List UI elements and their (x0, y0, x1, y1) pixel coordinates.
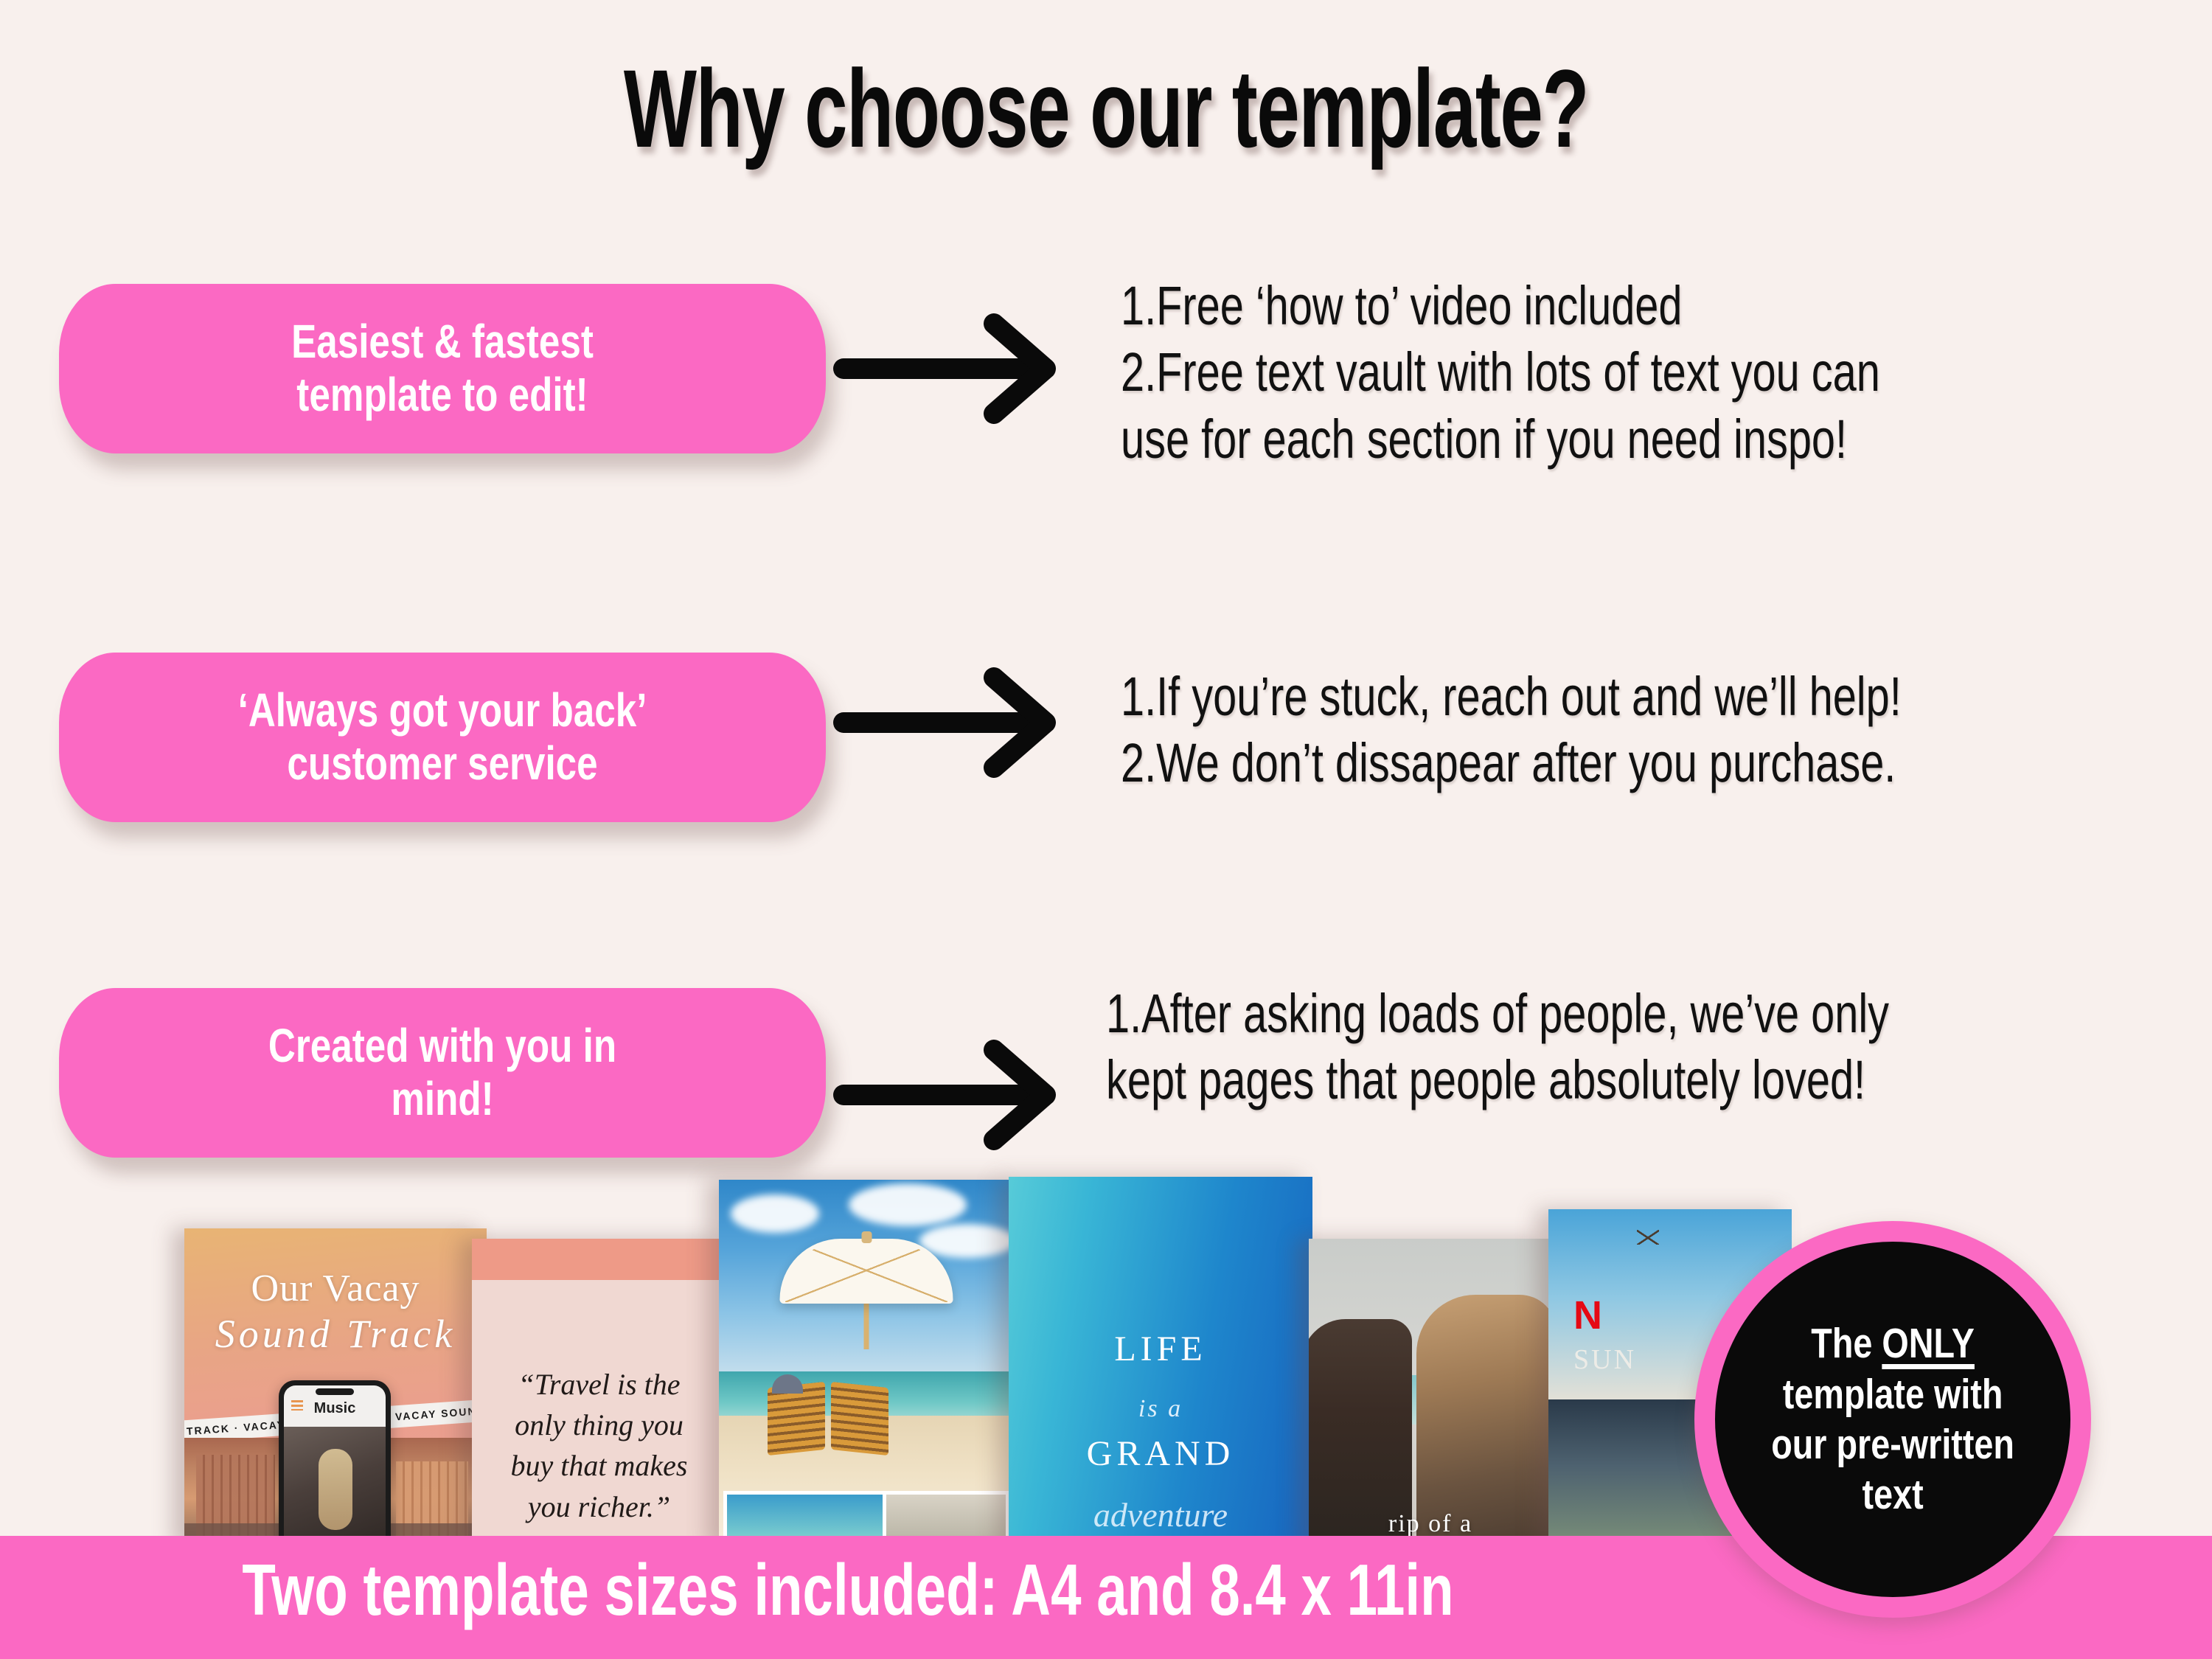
badge-line-4: text (1862, 1471, 1923, 1518)
feature-pill-1[interactable]: Easiest & fastest template to edit! (59, 284, 826, 453)
feature-point-1-3: use for each section if you need inspo! (1121, 406, 1880, 473)
mockup-streaming-subtitle: SUN (1573, 1343, 1636, 1376)
pill-3-line-2: mind! (391, 1072, 493, 1125)
page-title: Why choose our template? (332, 53, 1880, 164)
mockup-photo-tile (727, 1495, 883, 1540)
mockup-page-cover: Our Vacay Sound Track SOUND TRACK · VACA… (184, 1228, 487, 1548)
feature-pill-2[interactable]: ‘Always got your back’ customer service (59, 653, 826, 822)
mockup-cover-title: Our Vacay (184, 1267, 487, 1310)
only-template-badge-text: The ONLY template with our pre-written t… (1767, 1318, 2018, 1520)
mockup-portrait-caption: rip of a (1309, 1510, 1552, 1538)
poster-canvas: Why choose our template? Easiest & faste… (0, 0, 2212, 1659)
bird-icon (1637, 1230, 1659, 1245)
feature-points-1: 1.Free ‘how to’ video included 2.Free te… (1121, 273, 1880, 473)
pill-1-line-1: Easiest & fastest (291, 315, 594, 368)
feature-pill-1-text: Easiest & fastest template to edit! (79, 316, 806, 421)
mockup-life-line-3: GRAND (1009, 1433, 1312, 1474)
mockup-life-line-4: adventure (1009, 1495, 1312, 1534)
mockup-photo-tile (886, 1495, 1006, 1540)
mockup-phone: Music (279, 1380, 391, 1548)
feature-point-1-1: 1.Free ‘how to’ video included (1121, 273, 1880, 339)
feature-pill-2-text: ‘Always got your back’ customer service (79, 684, 806, 790)
lounge-chair-icon (831, 1382, 888, 1455)
mockup-quote-band (472, 1239, 726, 1280)
cloud-icon (849, 1183, 967, 1226)
right-arrow-icon (833, 313, 1077, 424)
badge-line-3: our pre-written (1771, 1421, 2014, 1468)
netflix-logo-icon: N (1573, 1298, 1602, 1334)
feature-points-2: 1.If you’re stuck, reach out and we’ll h… (1121, 664, 1902, 797)
badge-line-2: template with (1783, 1371, 2003, 1418)
bottom-banner-text: Two template sizes included: A4 and 8.4 … (204, 1554, 1492, 1626)
mockup-cover-subtitle: Sound Track (184, 1311, 487, 1357)
feature-pill-3[interactable]: Created with you in mind! (59, 988, 826, 1158)
mockup-page-quote: “Travel is the only thing you buy that m… (472, 1239, 726, 1548)
feature-points-3: 1.After asking loads of people, we’ve on… (1106, 981, 1889, 1114)
mockup-phone-photo (284, 1427, 386, 1548)
pill-2-line-1: ‘Always got your back’ (238, 684, 647, 737)
badge-line-1-prefix: The (1811, 1320, 1882, 1367)
mockup-life-line-2: is a (1009, 1395, 1312, 1423)
cloud-icon (731, 1194, 819, 1233)
feature-point-1-2: 2.Free text vault with lots of text you … (1121, 339, 1880, 406)
pill-3-line-1: Created with you in (268, 1019, 616, 1072)
only-template-badge[interactable]: The ONLY template with our pre-written t… (1694, 1221, 2091, 1618)
mockup-life-line-1: LIFE (1009, 1329, 1312, 1369)
feature-point-2-1: 1.If you’re stuck, reach out and we’ll h… (1121, 664, 1902, 730)
pill-2-line-2: customer service (287, 737, 597, 790)
badge-line-1-emphasis: ONLY (1882, 1320, 1975, 1367)
mockup-phone-notch (316, 1388, 354, 1395)
cloud-icon (919, 1224, 1014, 1258)
mockup-page-life-grand: LIFE is a GRAND adventure (1009, 1177, 1312, 1548)
feature-pill-3-text: Created with you in mind! (79, 1020, 806, 1125)
feature-point-3-1: 1.After asking loads of people, we’ve on… (1106, 981, 1889, 1047)
mockup-phone-screen: Music (284, 1385, 386, 1548)
mockup-page-beach (719, 1180, 1014, 1548)
mockup-phone-label: Music (284, 1400, 386, 1417)
right-arrow-icon (833, 667, 1077, 778)
mockup-quote-text: “Travel is the only thing you buy that m… (491, 1364, 707, 1527)
feature-point-2-2: 2.We don’t dissapear after you purchase. (1121, 730, 1902, 796)
right-arrow-icon (833, 1040, 1077, 1150)
pill-1-line-2: template to edit! (296, 368, 588, 421)
mockup-page-portrait: rip of a (1309, 1239, 1552, 1548)
feature-point-3-2: kept pages that people absolutely loved! (1106, 1047, 1889, 1113)
